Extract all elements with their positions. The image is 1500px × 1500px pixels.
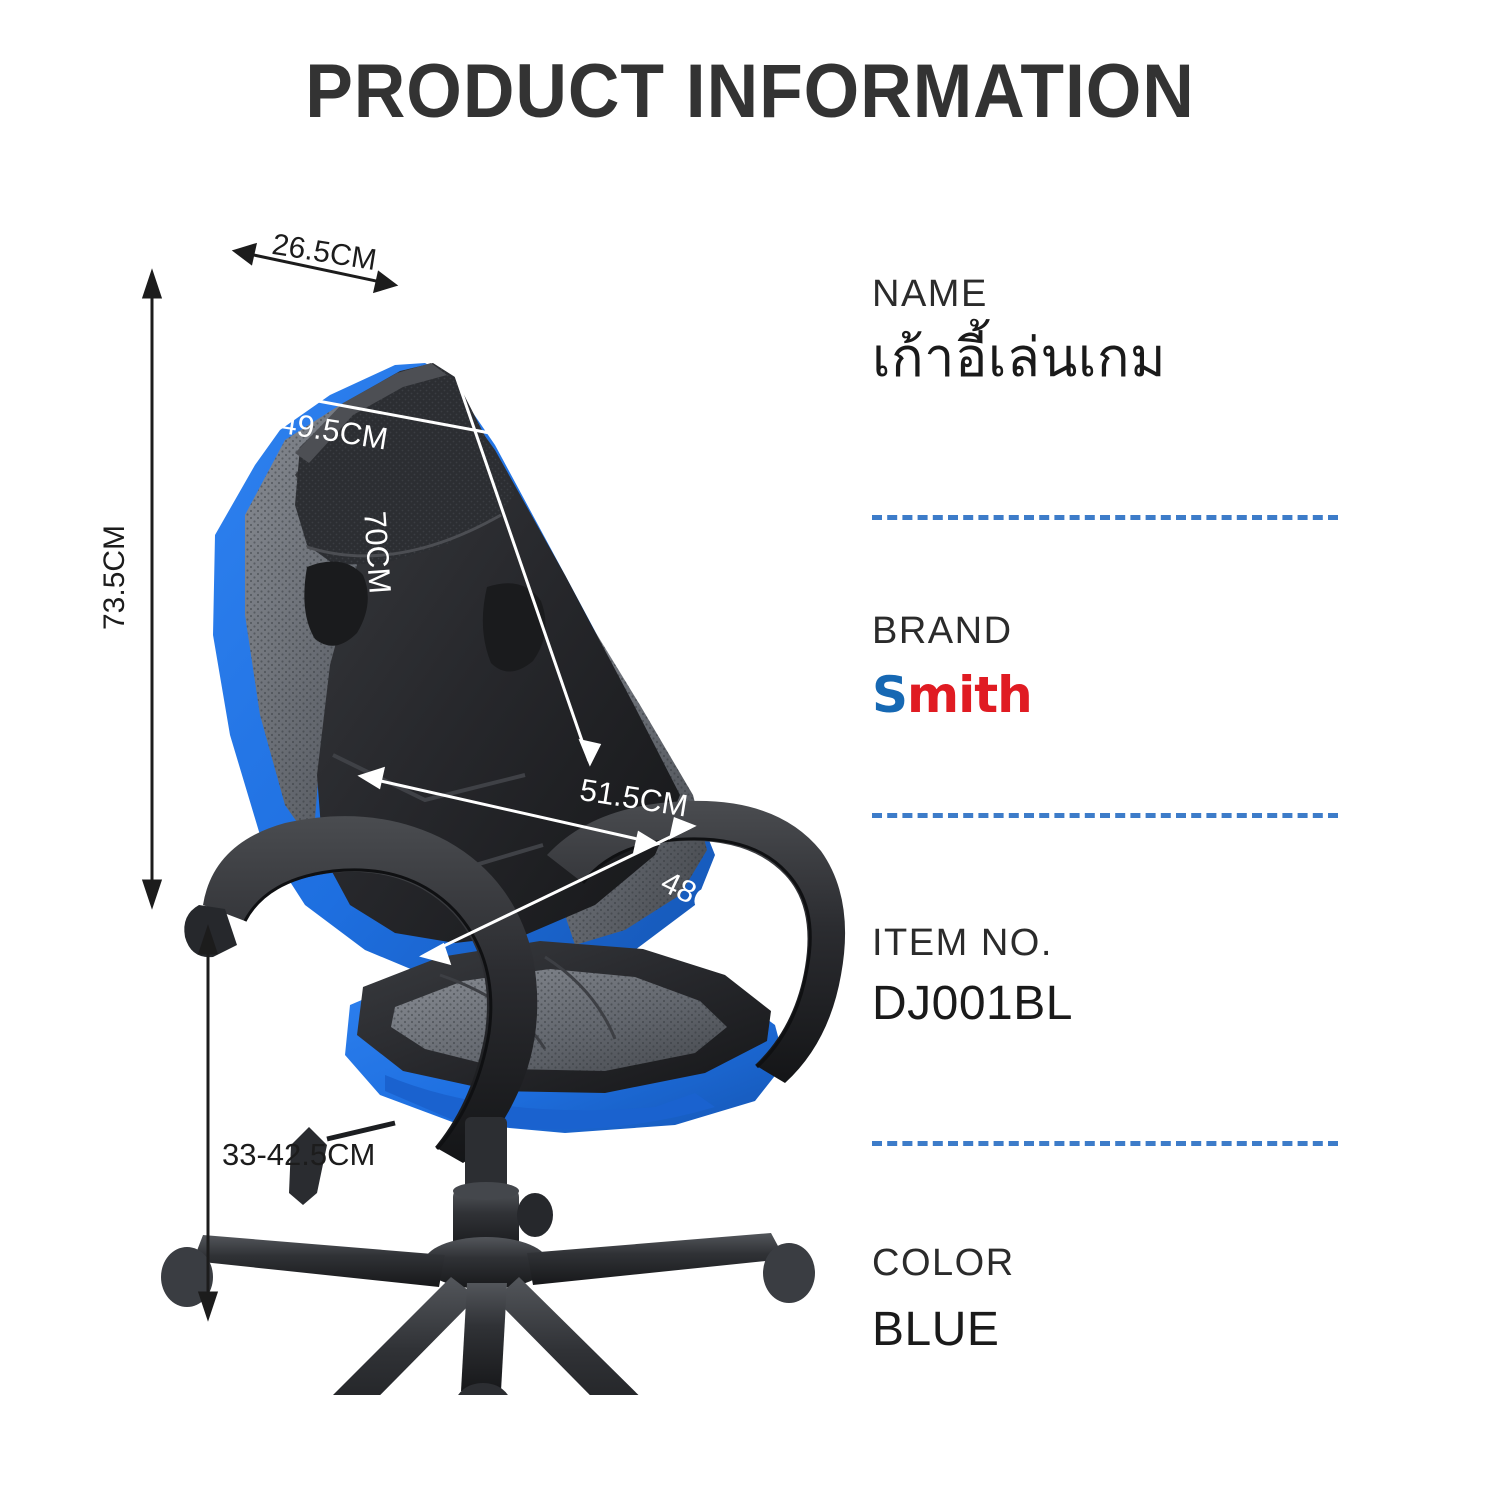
info-block-color: COLOR BLUE — [872, 1244, 1342, 1357]
tilt-knob — [517, 1193, 553, 1237]
base-leg-right-front — [495, 1277, 681, 1395]
page-title: PRODUCT INFORMATION — [45, 48, 1455, 135]
caster-right-rear — [763, 1243, 815, 1303]
product-information-page: PRODUCT INFORMATION — [0, 0, 1500, 1500]
dimension-label-seat-height: 33-42.5CM — [222, 1137, 375, 1173]
color-value: BLUE — [872, 1302, 1342, 1357]
base-leg-right-rear — [527, 1233, 785, 1285]
brand-logo-initial: S — [872, 666, 907, 724]
product-info-panel: NAME เก้าอี้เล่นเกม BRAND Smith ITEM NO.… — [872, 275, 1342, 1357]
info-block-name: NAME เก้าอี้เล่นเกม — [872, 275, 1342, 389]
spacer-after-divider-2 — [872, 818, 1342, 924]
base-leg-left-front — [291, 1277, 477, 1395]
name-label: NAME — [872, 275, 1342, 313]
product-image — [95, 215, 855, 1395]
spacer-after-item-no — [872, 1031, 1342, 1141]
gaming-chair-illustration — [95, 215, 855, 1395]
color-label: COLOR — [872, 1244, 1342, 1282]
dimension-label-total-height: 73.5CM — [98, 525, 132, 630]
name-value: เก้าอี้เล่นเกม — [872, 327, 1342, 389]
spacer-after-divider-3 — [872, 1146, 1342, 1244]
spacer-after-name — [872, 389, 1342, 515]
base-leg-front-center — [461, 1283, 507, 1391]
info-block-brand: BRAND Smith — [872, 612, 1342, 723]
spacer-after-brand — [872, 723, 1342, 813]
dimension-arrow-total-height — [144, 273, 160, 905]
brand-logo: Smith — [872, 668, 1342, 723]
brand-logo-rest: mith — [907, 666, 1032, 724]
info-block-item-no: ITEM NO. DJ001BL — [872, 924, 1342, 1031]
item-no-value: DJ001BL — [872, 976, 1342, 1031]
spacer-after-divider-1 — [872, 520, 1342, 612]
base-leg-left-rear — [193, 1235, 445, 1287]
dimension-label-back-height: 70CM — [356, 510, 398, 595]
brand-label: BRAND — [872, 612, 1342, 650]
item-no-label: ITEM NO. — [872, 924, 1342, 962]
cylinder-collar — [453, 1182, 519, 1200]
